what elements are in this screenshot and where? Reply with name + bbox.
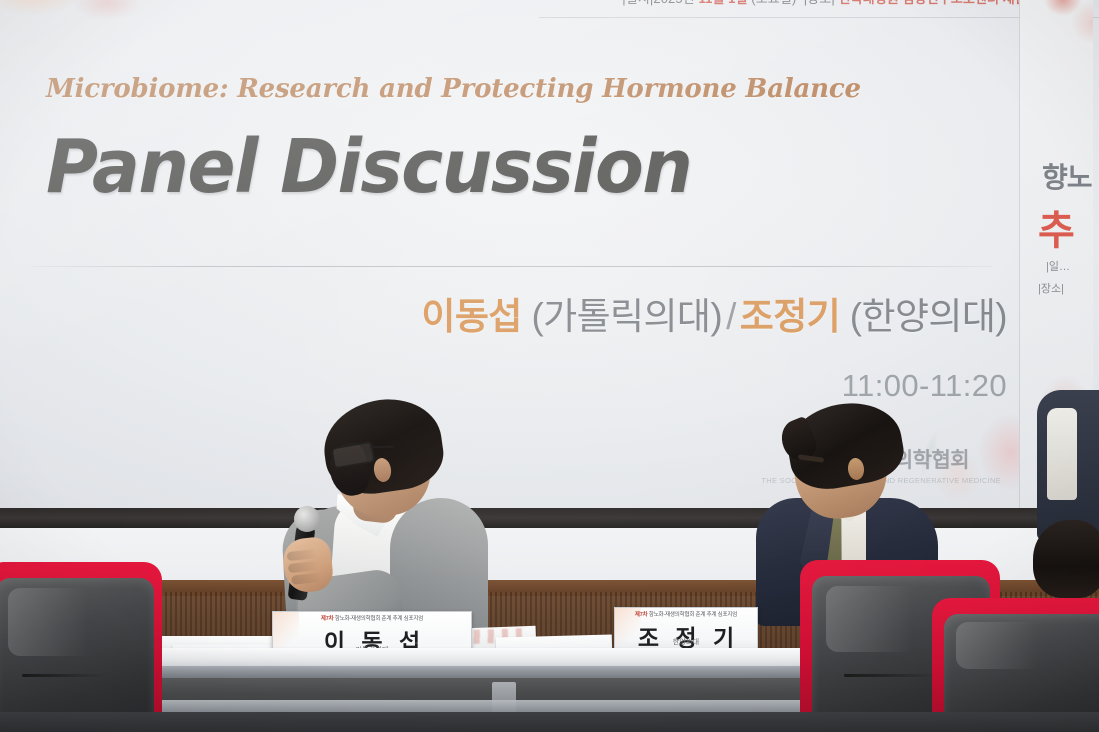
floor-strip	[0, 712, 1099, 732]
speaker-1-name: 이동섭	[421, 296, 521, 337]
side-poster-floral-top	[1031, 0, 1093, 42]
finger	[287, 549, 318, 561]
nameplate-header-red: 제7차	[321, 616, 334, 622]
shirt	[1047, 408, 1077, 500]
chair-back-shell	[0, 578, 154, 732]
slide-subtitle: Microbiome: Research and Protecting Horm…	[46, 74, 861, 104]
chair-highlight	[8, 588, 122, 656]
speaker-2-name: 조정기	[740, 296, 840, 337]
slide-divider	[32, 266, 992, 267]
panelist-lee-dongseop	[258, 398, 508, 638]
nameplate-header: 제7차 항노화-재생의학협회 춘계 추계 심포지엄	[273, 614, 471, 622]
finger	[291, 573, 322, 585]
chair-scuff-mark	[22, 674, 106, 677]
nameplate-header-gray: 항노화-재생의학협회 춘계 추계 심포지엄	[649, 612, 737, 618]
banner-place-label: |장소|	[804, 0, 835, 6]
side-poster-meta-2: |장소|	[1038, 280, 1064, 296]
slide-title: Panel Discussion	[46, 130, 691, 204]
banner-date-pre: 2025년	[653, 0, 698, 6]
conference-photo-scene: |일시|2025년 11월 1일 (토요일) |장소| 전북대병원 임상연구보호…	[0, 0, 1099, 732]
side-poster-line-gray: 향노	[1042, 156, 1092, 196]
nameplate-header-red: 제7차	[635, 612, 648, 618]
chair-scuff-mark	[844, 674, 940, 677]
banner-date-post: (토요일)	[748, 0, 797, 6]
nameplate-jo-jeonggi: 제7차 항노화-재생의학협회 춘계 추계 심포지엄 조 정 기 한양의대	[614, 607, 758, 651]
audience-member-right-edge	[1029, 350, 1099, 610]
nameplate-header: 제7차 항노화-재생의학협회 춘계 추계 심포지엄	[615, 610, 757, 618]
banner-underline	[539, 17, 1099, 18]
nameplate-affiliation: 한양의대	[615, 637, 757, 647]
speaker-1-affiliation: (가톨릭의대)	[531, 296, 722, 337]
slide-time: 11:00-11:20	[842, 368, 1007, 404]
slide-speakers: 이동섭 (가톨릭의대)/조정기 (한양의대)	[421, 286, 1007, 340]
finger	[288, 561, 319, 573]
nameplate-header-gray: 항노화-재생의학협회 춘계 추계 심포지엄	[335, 616, 423, 622]
banner-text: |일시|2025년 11월 1일 (토요일) |장소| 전북대병원 임상연구보호…	[622, 0, 1051, 7]
side-poster-meta-1: |일…	[1046, 258, 1070, 274]
head-and-hair	[1033, 520, 1099, 598]
side-poster-line-red: 추	[1038, 198, 1074, 256]
speaker-2-affiliation: (한양의대)	[850, 296, 1007, 337]
banner-date-highlight: 11월 1일	[698, 0, 747, 6]
microphone-icon	[294, 506, 320, 532]
banner-date-label: |일시|	[622, 0, 653, 6]
speaker-separator: /	[722, 296, 740, 337]
chair-highlight	[956, 622, 1073, 669]
